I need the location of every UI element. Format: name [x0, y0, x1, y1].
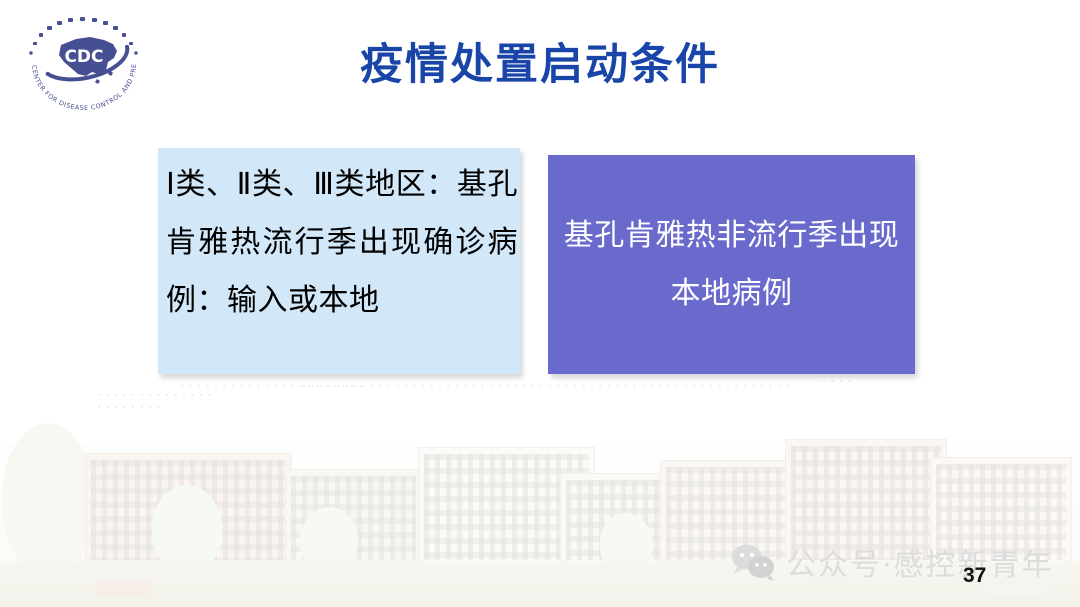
page-number: 37 — [963, 564, 986, 588]
condition-box-endemic: Ⅰ类、Ⅱ类、Ⅲ类地区：基孔肯雅热流行季出现确诊病例：输入或本地 — [158, 148, 520, 374]
photo-tree — [300, 507, 358, 573]
background-ghost-text: ・・・・・・・・・・・・・・・・・・・・・・・・・・・・・・・・ — [520, 381, 792, 392]
photo-building — [560, 473, 672, 567]
photo-ground — [0, 561, 1080, 607]
photo-building — [930, 457, 1072, 567]
wechat-icon — [730, 542, 776, 582]
condition-box-endemic-text: Ⅰ类、Ⅱ类、Ⅲ类地区：基孔肯雅热流行季出现确诊病例：输入或本地 — [166, 156, 518, 330]
photo-building — [660, 460, 792, 567]
photo-building — [418, 447, 595, 567]
photo-road — [0, 579, 1080, 599]
background-ghost-text: ・・・・・・・・ — [95, 402, 163, 413]
photo-car — [985, 581, 1047, 597]
watermark: 公众号·感控新青年 — [730, 540, 1054, 584]
photo-tree — [600, 513, 652, 573]
photo-tree — [152, 485, 222, 573]
photo-building — [785, 439, 947, 567]
watermark-text: 公众号·感控新青年 — [786, 540, 1054, 584]
photo-building — [285, 469, 422, 567]
slide: ・・・・・・・・・・・・・・ ・・・・・・・・ ・・・・・・・・・・・・・・・・… — [0, 0, 1080, 607]
page-title: 疫情处置启动条件 — [0, 30, 1080, 92]
condition-box-non-endemic-text: 基孔肯雅热非流行季出现本地病例 — [562, 207, 901, 323]
background-ghost-text: ・・・・ — [820, 376, 854, 387]
photo-car — [95, 581, 151, 597]
background-ghost-text: ・・・・・・・・・・・・・・・・・・・・・・・・・・ — [300, 381, 521, 392]
photo-tree — [2, 423, 94, 573]
photo-building — [85, 453, 292, 567]
condition-box-non-endemic: 基孔肯雅热非流行季出现本地病例 — [548, 155, 915, 374]
